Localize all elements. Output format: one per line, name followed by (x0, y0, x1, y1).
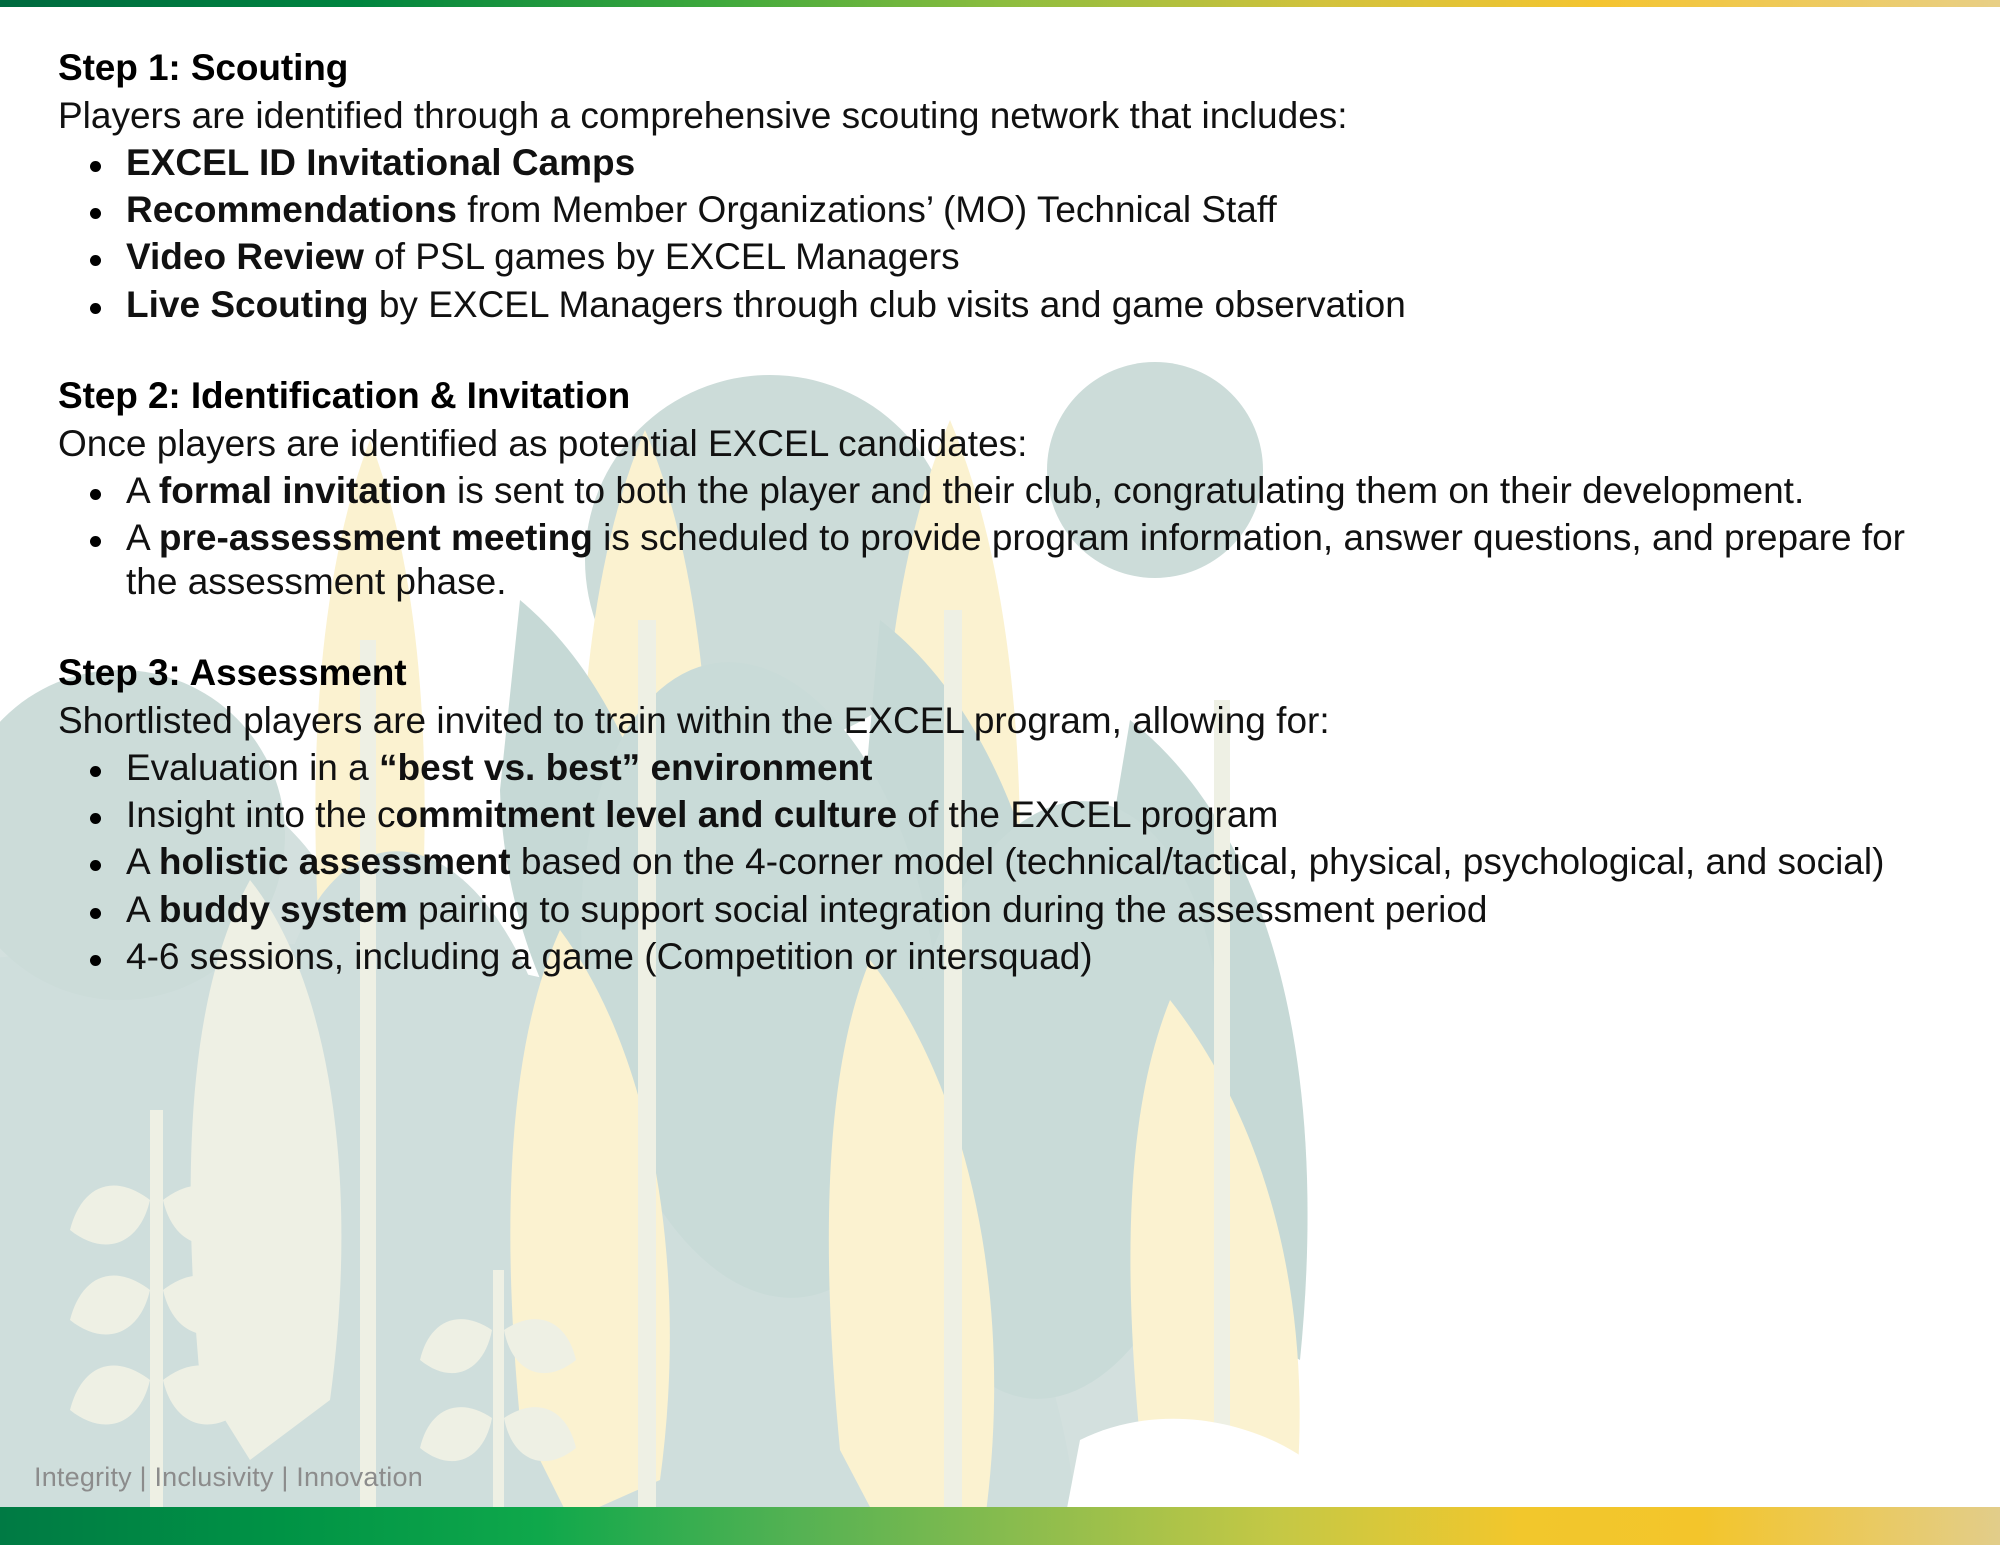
sage-blob-bottom (0, 942, 1080, 1545)
white-cutout-right (1290, 1130, 2000, 1545)
list-item: Insight into the commitment level and cu… (58, 793, 1942, 836)
section-spacer (58, 330, 1942, 372)
bullet-prefix: Insight into the c (126, 794, 395, 835)
bullet-rest: by EXCEL Managers through club visits an… (369, 284, 1406, 325)
section-heading-step-1: Step 1: Scouting (58, 44, 1942, 92)
bullet-prefix: Evaluation in a (126, 747, 379, 788)
top-accent-bar (0, 0, 2000, 7)
sprig-leaf-9 (420, 1407, 492, 1461)
section-heading-step-2: Step 2: Identification & Invitation (58, 372, 1942, 420)
bullet-prefix: A (126, 470, 159, 511)
list-item: EXCEL ID Invitational Camps (58, 141, 1942, 184)
bullet-bold: EXCEL ID Invitational Camps (126, 142, 635, 183)
bottom-accent-bar (0, 1507, 2000, 1545)
cream-leaf-lower-4 (1130, 1000, 1299, 1545)
bullet-prefix: A (126, 517, 159, 558)
bullet-prefix: A (126, 889, 159, 930)
section-intro-step-1: Players are identified through a compreh… (58, 92, 1942, 141)
footer-tagline: Integrity | Inclusivity | Innovation (34, 1462, 423, 1493)
section-spacer (58, 607, 1942, 649)
list-item: 4-6 sessions, including a game (Competit… (58, 935, 1942, 978)
bullet-list-step-3: Evaluation in a “best vs. best” environm… (58, 746, 1942, 978)
list-item: Recommendations from Member Organization… (58, 188, 1942, 231)
sprig-leaf-7 (420, 1319, 492, 1373)
list-item: A holistic assessment based on the 4-cor… (58, 840, 1942, 883)
section-intro-step-3: Shortlisted players are invited to train… (58, 697, 1942, 746)
bullet-bold: Live Scouting (126, 284, 369, 325)
bullet-prefix: 4-6 sessions, including a game (Competit… (126, 936, 1093, 977)
stem-6 (493, 1270, 504, 1545)
bullet-rest: from Member Organizations’ (MO) Technica… (457, 189, 1277, 230)
bullet-rest: based on the 4-corner model (technical/t… (511, 841, 1885, 882)
cream-leaf-lower-3 (829, 960, 994, 1545)
bullet-rest: is sent to both the player and their clu… (447, 470, 1805, 511)
slide-content: Step 1: Scouting Players are identified … (0, 0, 2000, 982)
section-heading-step-3: Step 3: Assessment (58, 649, 1942, 697)
slide-canvas: Step 1: Scouting Players are identified … (0, 0, 2000, 1545)
bullet-bold: Recommendations (126, 189, 457, 230)
bullet-rest: of PSL games by EXCEL Managers (364, 236, 960, 277)
sprig-leaf-5 (70, 1366, 150, 1425)
sprig-leaf-8 (504, 1319, 576, 1373)
list-item: A buddy system pairing to support social… (58, 888, 1942, 931)
list-item: A formal invitation is sent to both the … (58, 469, 1942, 512)
bullet-bold: Video Review (126, 236, 364, 277)
section-step-2: Step 2: Identification & Invitation Once… (58, 372, 1942, 603)
cream-leaf-lower-2 (510, 930, 670, 1520)
sprig-leaf-3 (70, 1276, 150, 1335)
bullet-rest: of the EXCEL program (897, 794, 1278, 835)
sprig-leaf-2 (163, 1186, 243, 1245)
list-item: Evaluation in a “best vs. best” environm… (58, 746, 1942, 789)
section-intro-step-2: Once players are identified as potential… (58, 420, 1942, 469)
list-item: Live Scouting by EXCEL Managers through … (58, 283, 1942, 326)
bullet-rest: pairing to support social integration du… (408, 889, 1488, 930)
bullet-bold: formal invitation (159, 470, 447, 511)
bullet-bold: buddy system (159, 889, 408, 930)
section-step-3: Step 3: Assessment Shortlisted players a… (58, 649, 1942, 978)
bullet-prefix: A (126, 841, 159, 882)
bullet-list-step-1: EXCEL ID Invitational Camps Recommendati… (58, 141, 1942, 326)
sprig-leaf-4 (163, 1276, 243, 1335)
list-item: Video Review of PSL games by EXCEL Manag… (58, 235, 1942, 278)
sprig-leaf-6 (163, 1366, 243, 1425)
list-item: A pre-assessment meeting is scheduled to… (58, 516, 1942, 603)
bullet-list-step-2: A formal invitation is sent to both the … (58, 469, 1942, 603)
bullet-bold: ommitment level and culture (395, 794, 897, 835)
bullet-bold: holistic assessment (159, 841, 511, 882)
section-step-1: Step 1: Scouting Players are identified … (58, 44, 1942, 326)
bullet-bold: pre-assessment meeting (159, 517, 593, 558)
sprig-leaf-10 (504, 1407, 576, 1461)
bullet-bold: “best vs. best” environment (379, 747, 872, 788)
sprig-leaf-1 (70, 1186, 150, 1245)
